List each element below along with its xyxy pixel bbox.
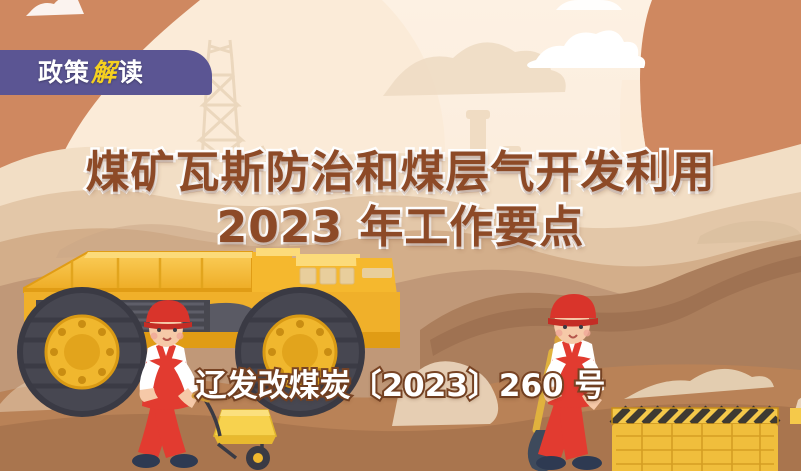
policy-interpretation-badge[interactable]: 政策解读 bbox=[0, 50, 212, 95]
badge-label-prefix: 政策 bbox=[38, 58, 90, 87]
policy-poster: 政策解读 煤矿瓦斯防治和煤层气开发利用 2023 年工作要点 辽发改煤炭〔202… bbox=[0, 0, 801, 471]
badge-label: 政策解读 bbox=[38, 60, 144, 85]
badge-label-suffix: 读 bbox=[118, 58, 144, 87]
badge-label-highlight: 解 bbox=[90, 58, 118, 87]
